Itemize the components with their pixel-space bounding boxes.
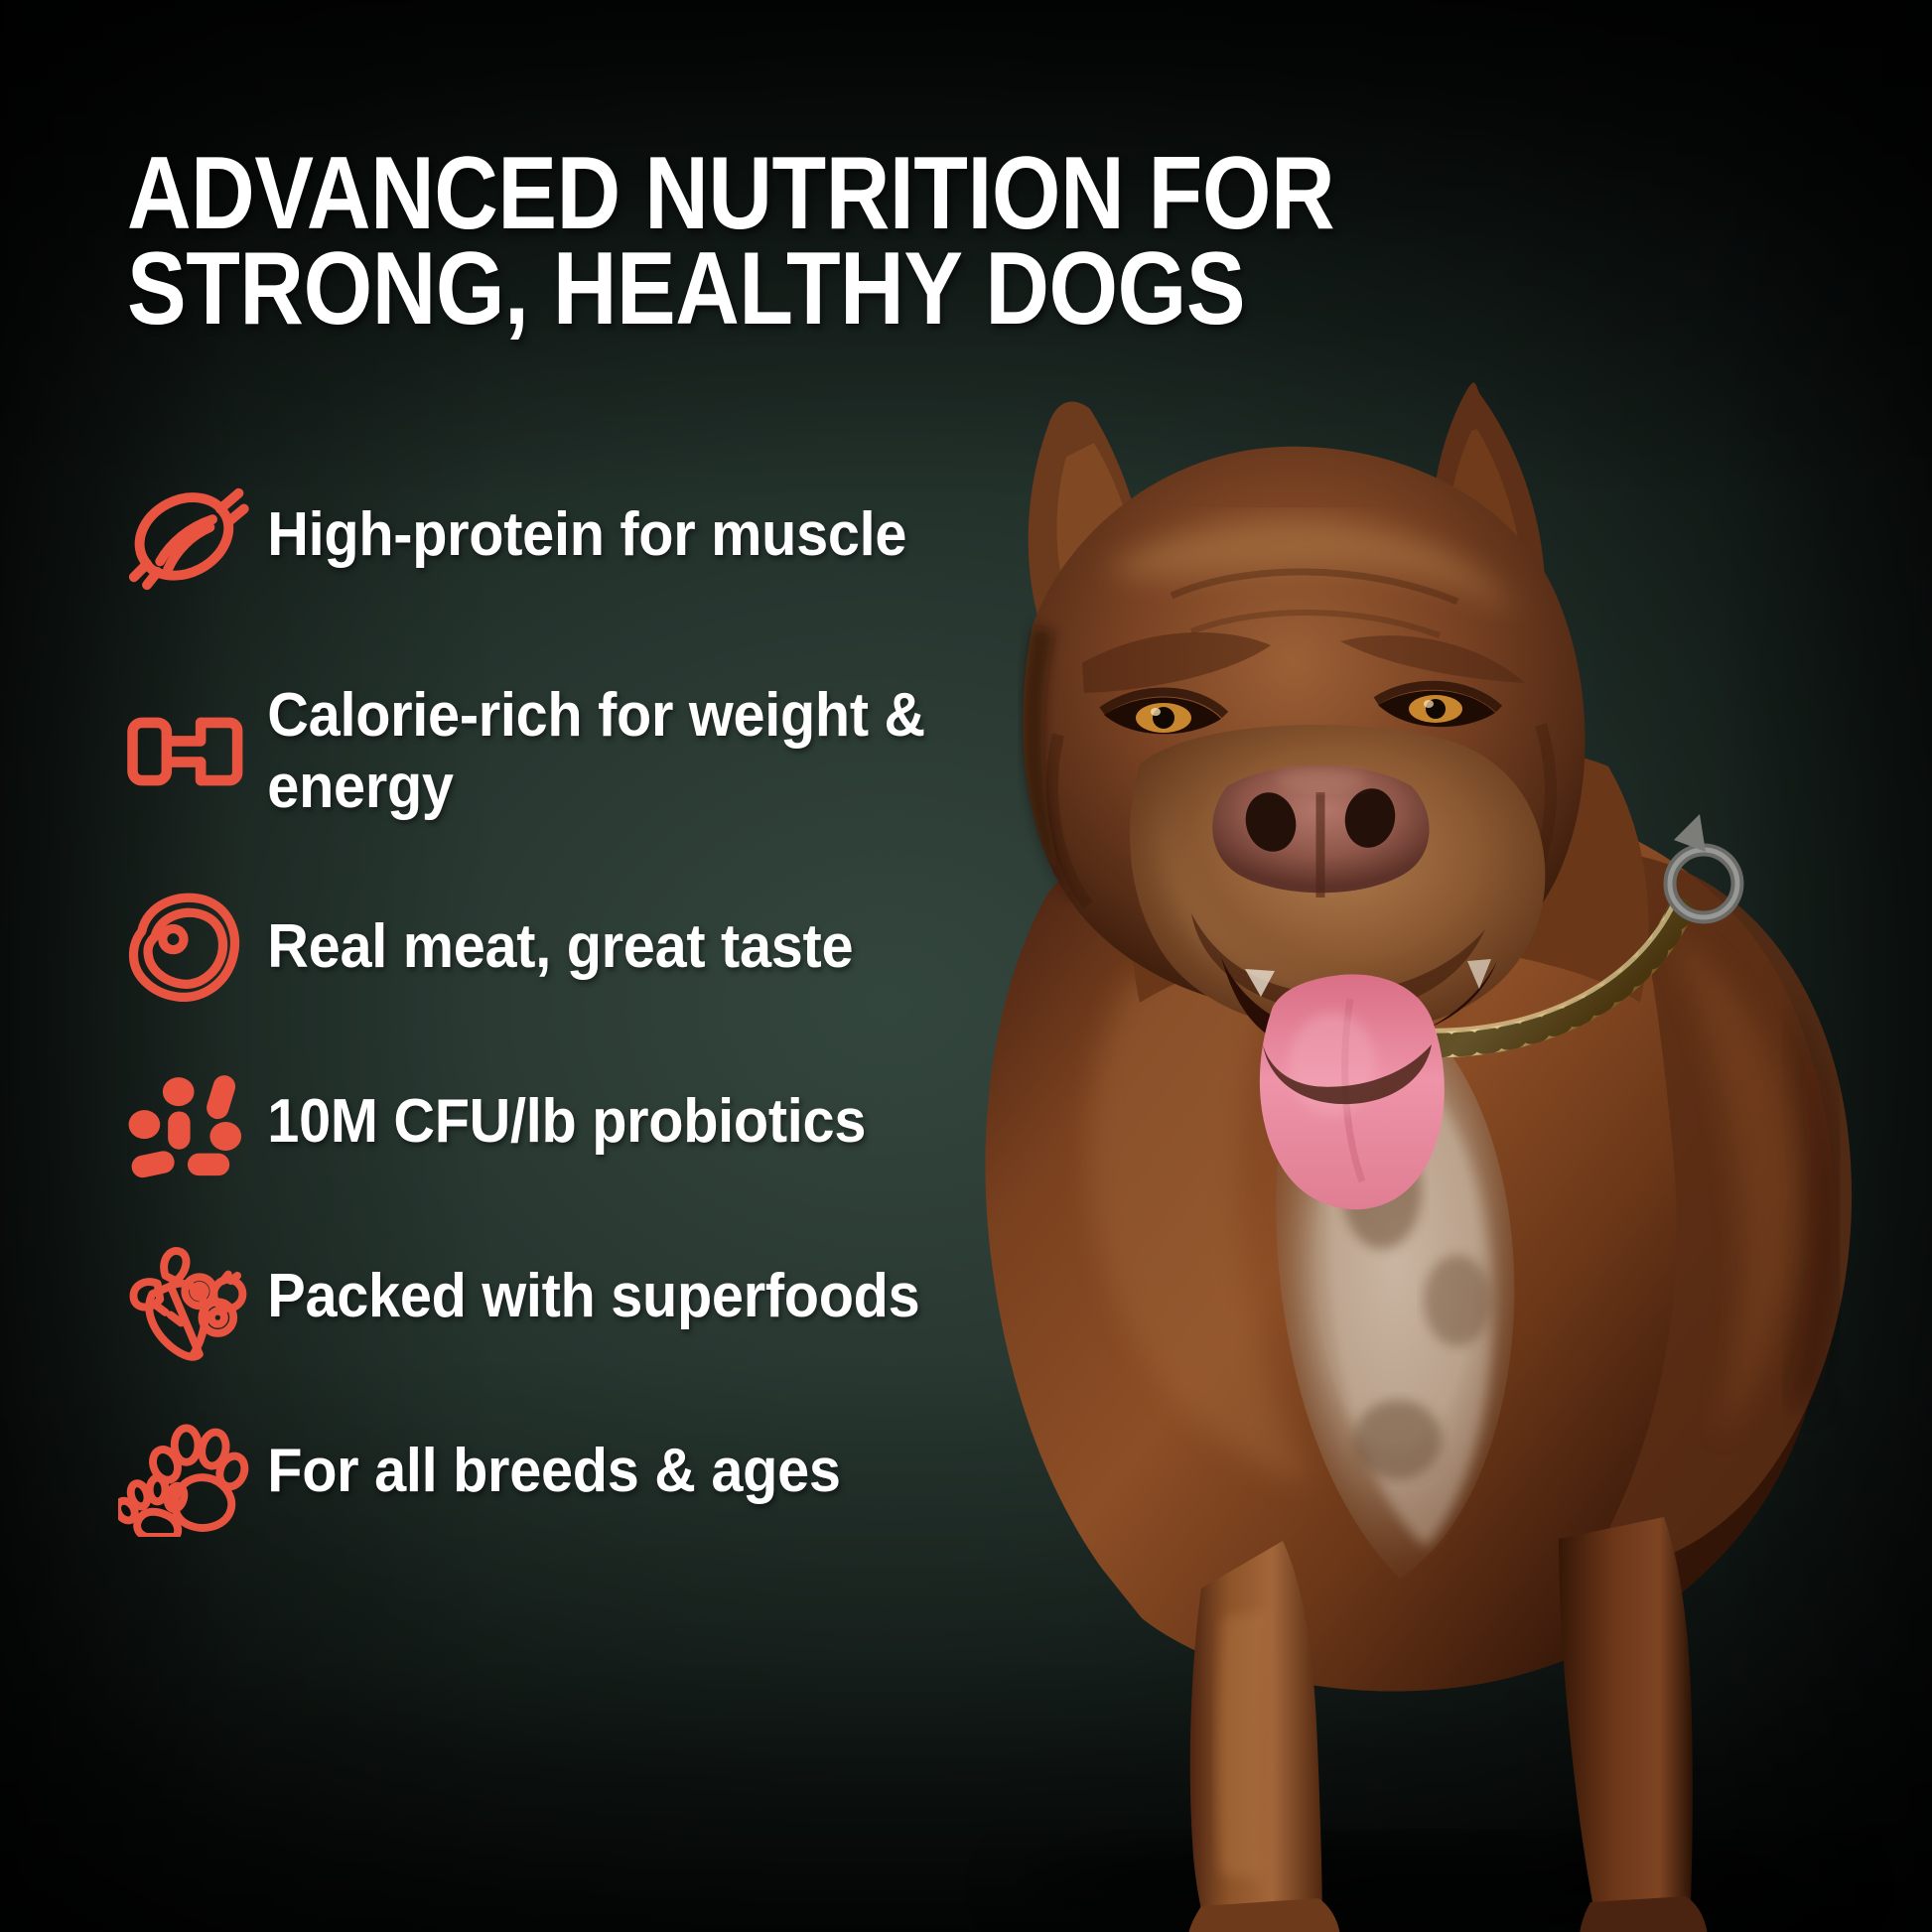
steak-icon bbox=[109, 873, 258, 1022]
muscle-icon bbox=[109, 461, 258, 610]
feature-label-all-breeds: For all breeds & ages bbox=[258, 1436, 1089, 1507]
headline-line-2: STRONG, HEALTHY DOGS bbox=[127, 242, 1459, 338]
feature-list: High-protein for muscle Calorie-rich for… bbox=[109, 427, 1152, 1559]
feature-item-high-protein: High-protein for muscle bbox=[109, 427, 1152, 643]
dumbbell-icon bbox=[109, 677, 258, 826]
feature-item-all-breeds: For all breeds & ages bbox=[109, 1384, 1152, 1559]
page-title: ADVANCED NUTRITION FOR STRONG, HEALTHY D… bbox=[127, 147, 1676, 337]
feature-item-probiotics: 10M CFU/lb probiotics bbox=[109, 1035, 1152, 1209]
feature-label-calorie-rich: Calorie-rich for weight & energy bbox=[258, 680, 1089, 823]
feature-item-calorie-rich: Calorie-rich for weight & energy bbox=[109, 643, 1152, 860]
feature-item-superfoods: Packed with superfoods bbox=[109, 1209, 1152, 1384]
headline-line-1: ADVANCED NUTRITION FOR bbox=[127, 147, 1459, 242]
probiotics-icon bbox=[109, 1047, 258, 1196]
feature-label-probiotics: 10M CFU/lb probiotics bbox=[258, 1086, 1089, 1158]
feature-label-high-protein: High-protein for muscle bbox=[258, 499, 1089, 571]
feature-label-superfoods: Packed with superfoods bbox=[258, 1261, 1089, 1332]
carrot-berries-icon bbox=[109, 1222, 258, 1371]
paw-prints-icon bbox=[109, 1397, 258, 1546]
feature-item-real-meat: Real meat, great taste bbox=[109, 860, 1152, 1035]
banner-canvas: ADVANCED NUTRITION FOR STRONG, HEALTHY D… bbox=[0, 0, 1932, 1932]
feature-label-real-meat: Real meat, great taste bbox=[258, 911, 1089, 983]
